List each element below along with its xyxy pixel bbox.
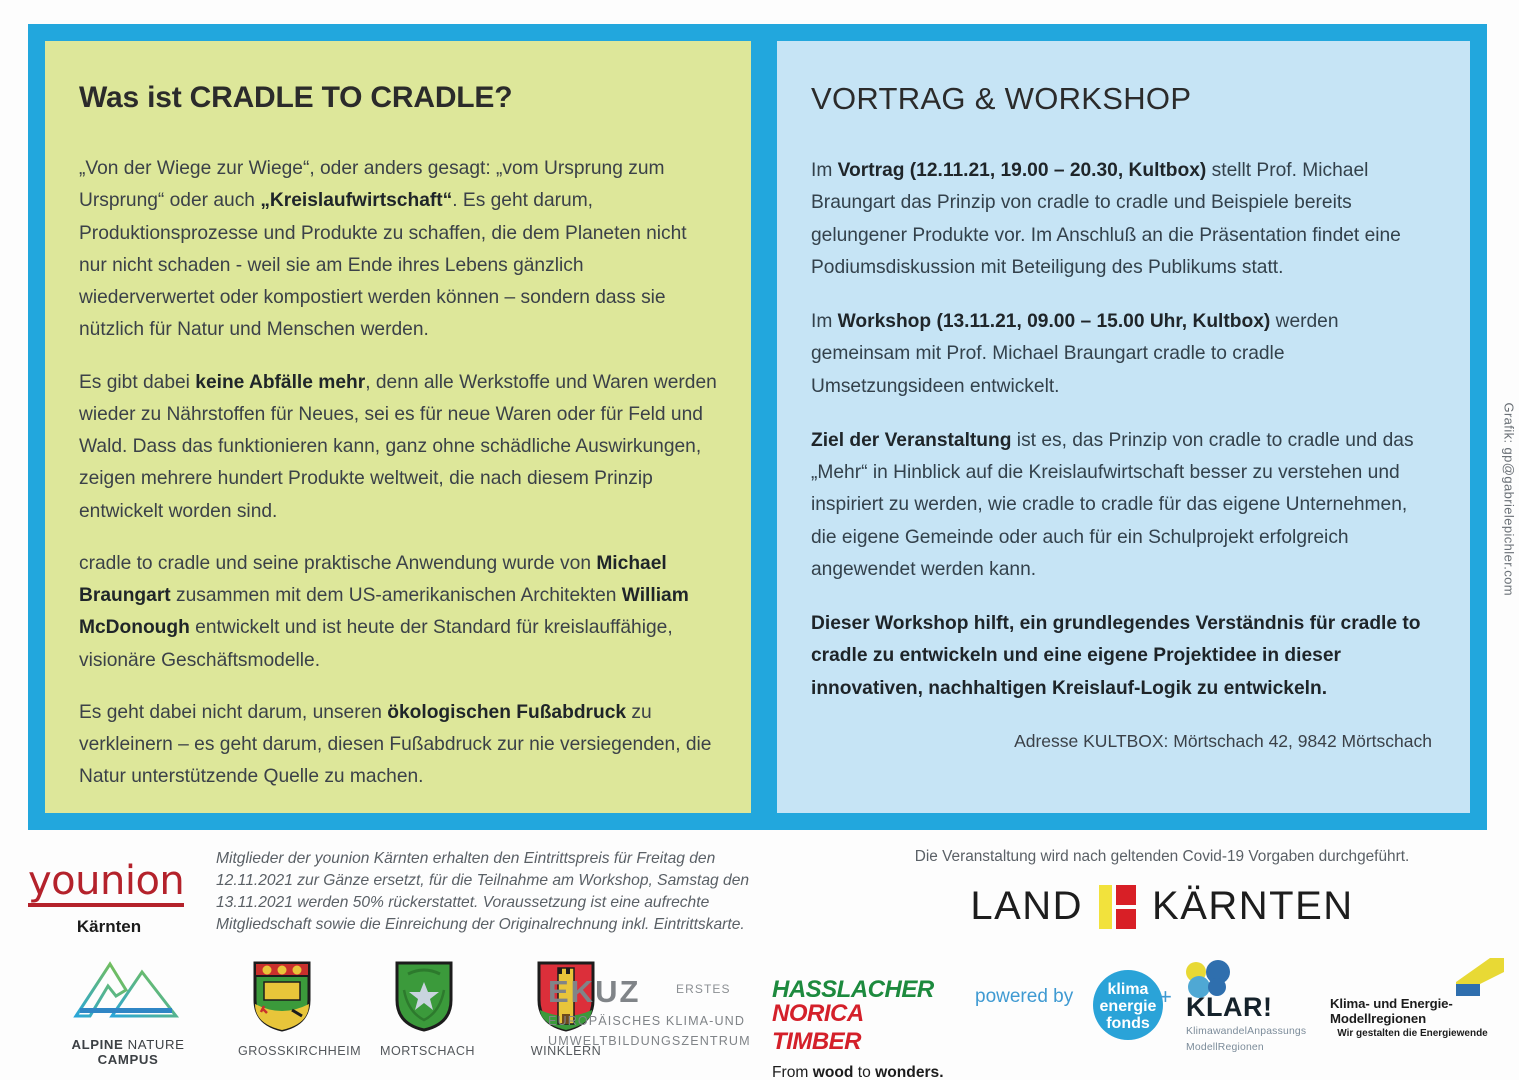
anc-nature: NATURE xyxy=(123,1037,184,1052)
grosskirchheim-crest-icon xyxy=(251,960,313,1032)
klimafonds-line-2: energie xyxy=(1093,999,1163,1015)
right-paragraph-ziel: Ziel der Veranstaltung ist es, das Prinz… xyxy=(811,425,1432,586)
klimafonds-powered-by: powered by xyxy=(975,986,1073,1008)
left-panel-heading: Was ist CRADLE TO CRADLE? xyxy=(79,81,717,115)
younion-member-note: Mitglieder der younion Kärnten erhalten … xyxy=(216,848,780,937)
left-p4-part-a: Es geht dabei nicht darum, unseren xyxy=(79,702,387,723)
klimafonds-line-1: klima xyxy=(1093,982,1163,998)
left-p2-part-a: Es gibt dabei xyxy=(79,372,195,393)
anc-bold-alpine: ALPINE xyxy=(71,1037,123,1052)
land-coat-of-arms-icon xyxy=(1099,885,1136,929)
content-frame: Was ist CRADLE TO CRADLE? „Von der Wiege… xyxy=(28,24,1487,830)
land-red-bar-top xyxy=(1116,885,1136,905)
right-p3-part-c: ist es, das Prinzip von cradle to cradle… xyxy=(811,430,1414,580)
land-yellow-bar xyxy=(1099,885,1112,929)
crest-grosskirchheim: GROSSKIRCHHEIM xyxy=(238,960,326,1058)
sponsor-strip: ALPINE NATURE CAMPUS GROSSKIRCHHEIM xyxy=(0,954,1519,1076)
mountain-icon xyxy=(68,958,188,1026)
younion-block: younion Kärnten Mitglieder der younion K… xyxy=(28,848,780,937)
left-p4-bold: ökologischen Fußabdruck xyxy=(387,702,626,723)
land-word: LAND xyxy=(970,884,1083,929)
poster-page: Was ist CRADLE TO CRADLE? „Von der Wiege… xyxy=(0,0,1519,1080)
crest-label-mortschach: MORTSCHACH xyxy=(380,1044,468,1058)
left-paragraph-2: Es gibt dabei keine Abfälle mehr, denn a… xyxy=(79,367,717,528)
klar-dot-blue-small xyxy=(1208,978,1226,996)
mortschach-crest-icon xyxy=(393,960,455,1032)
klimafonds-logo: powered by klima energie fonds + xyxy=(975,966,1180,1044)
hass-slogan-wood: wood xyxy=(813,1064,854,1080)
hass-slogan-c: to xyxy=(853,1064,875,1080)
kem-arrow-icon xyxy=(1450,956,1508,1000)
left-p1-part-c: . Es geht darum, Produktionsprozesse und… xyxy=(79,190,687,340)
kaernten-word: KÄRNTEN xyxy=(1152,884,1354,929)
klar-dot-lightblue xyxy=(1188,976,1210,998)
land-red-bar-bottom xyxy=(1116,909,1136,929)
right-paragraph-vortrag: Im Vortrag (12.11.21, 19.00 – 20.30, Kul… xyxy=(811,155,1432,284)
ekuz-logo: EKUZ ERSTES EUROPÄISCHES KLIMA-UND UMWEL… xyxy=(548,974,748,1051)
crest-mortschach: MORTSCHACH xyxy=(380,960,468,1058)
ekuz-wordmark: EKUZ xyxy=(548,974,640,1009)
panel-vortrag-workshop: VORTRAG & WORKSHOP Im Vortrag (12.11.21,… xyxy=(777,41,1470,813)
land-kaernten-logo: LAND KÄRNTEN xyxy=(862,884,1462,929)
right-paragraph-workshop: Im Workshop (13.11.21, 09.00 – 15.00 Uhr… xyxy=(811,306,1432,403)
kultbox-address: Adresse KULTBOX: Mörtschach 42, 9842 Mör… xyxy=(811,731,1432,752)
klar-logo: KLAR! KlimawandelAnpassungs ModellRegion… xyxy=(1186,960,1336,1055)
klar-subline-1: KlimawandelAnpassungs xyxy=(1186,1025,1336,1039)
footer: younion Kärnten Mitglieder der younion K… xyxy=(0,836,1519,1080)
kem-line-1: Klima- und Energie-Modellregionen xyxy=(1330,996,1495,1026)
klimafonds-circle-icon: klima energie fonds xyxy=(1093,970,1163,1040)
hasslacher-line-2: NORICA TIMBER xyxy=(772,1000,950,1056)
younion-wordmark: younion xyxy=(28,862,190,900)
left-p3-part-c: zusammen mit dem US-amerikanischen Archi… xyxy=(171,585,622,606)
ekuz-line-2: UMWELTBILDUNGSZENTRUM xyxy=(548,1032,748,1050)
covid-note: Die Veranstaltung wird nach geltenden Co… xyxy=(862,848,1462,866)
hasslacher-slogan: From wood to wonders. xyxy=(772,1064,950,1080)
right-panel-heading: VORTRAG & WORKSHOP xyxy=(811,81,1432,117)
younion-region-label: Kärnten xyxy=(28,917,190,937)
younion-logo: younion Kärnten xyxy=(28,848,190,937)
left-paragraph-4: Es geht dabei nicht darum, unseren ökolo… xyxy=(79,697,717,794)
hasslacher-logo: HASSLACHER NORICA TIMBER From wood to wo… xyxy=(772,976,950,1080)
alpine-nature-campus-label: ALPINE NATURE CAMPUS xyxy=(42,1037,214,1067)
hass-slogan-a: From xyxy=(772,1064,813,1080)
right-p2-part-a: Im xyxy=(811,311,838,332)
right-p2-bold-workshop-details: Workshop (13.11.21, 09.00 – 15.00 Uhr, K… xyxy=(838,311,1271,332)
designer-credit: Grafik: gp@gabrielepichler.com xyxy=(1502,402,1517,596)
left-p2-part-c: , denn alle Werkstoffe und Waren werden … xyxy=(79,372,717,522)
alpine-nature-campus-logo: ALPINE NATURE CAMPUS xyxy=(42,958,214,1067)
anc-bold-campus: CAMPUS xyxy=(98,1052,159,1067)
right-p1-part-a: Im xyxy=(811,160,838,181)
kem-logo: Klima- und Energie-Modellregionen Wir ge… xyxy=(1330,996,1495,1039)
panel-what-is-cradle-to-cradle: Was ist CRADLE TO CRADLE? „Von der Wiege… xyxy=(45,41,751,813)
left-p3-part-a: cradle to cradle und seine praktische An… xyxy=(79,553,596,574)
left-p2-bold: keine Abfälle mehr xyxy=(195,372,365,393)
klar-subline-2: ModellRegionen xyxy=(1186,1041,1336,1055)
left-p1-bold: „Kreislaufwirtschaft“ xyxy=(260,190,452,211)
right-paragraph-hilft: Dieser Workshop hilft, ein grundlegendes… xyxy=(811,608,1432,705)
ekuz-line-1: EUROPÄISCHES KLIMA-UND xyxy=(548,1012,748,1030)
klar-dots-icon xyxy=(1186,960,1246,998)
ekuz-tagline-erstes: ERSTES xyxy=(676,982,731,996)
land-red-bars xyxy=(1116,885,1136,929)
klimafonds-line-3: fonds xyxy=(1093,1016,1163,1032)
left-paragraph-3: cradle to cradle und seine praktische An… xyxy=(79,548,717,677)
right-p3-bold-ziel: Ziel der Veranstaltung xyxy=(811,430,1011,451)
right-p1-bold-vortrag-details: Vortrag (12.11.21, 19.00 – 20.30, Kultbo… xyxy=(838,160,1207,181)
crest-label-grosskirchheim: GROSSKIRCHHEIM xyxy=(238,1044,326,1058)
kem-line-2: Wir gestalten die Energiewende xyxy=(1330,1028,1495,1039)
hass-slogan-wonders: wonders. xyxy=(875,1064,943,1080)
left-paragraph-1: „Von der Wiege zur Wiege“, oder anders g… xyxy=(79,153,717,347)
klimafonds-plus-sign: + xyxy=(1159,984,1172,1010)
